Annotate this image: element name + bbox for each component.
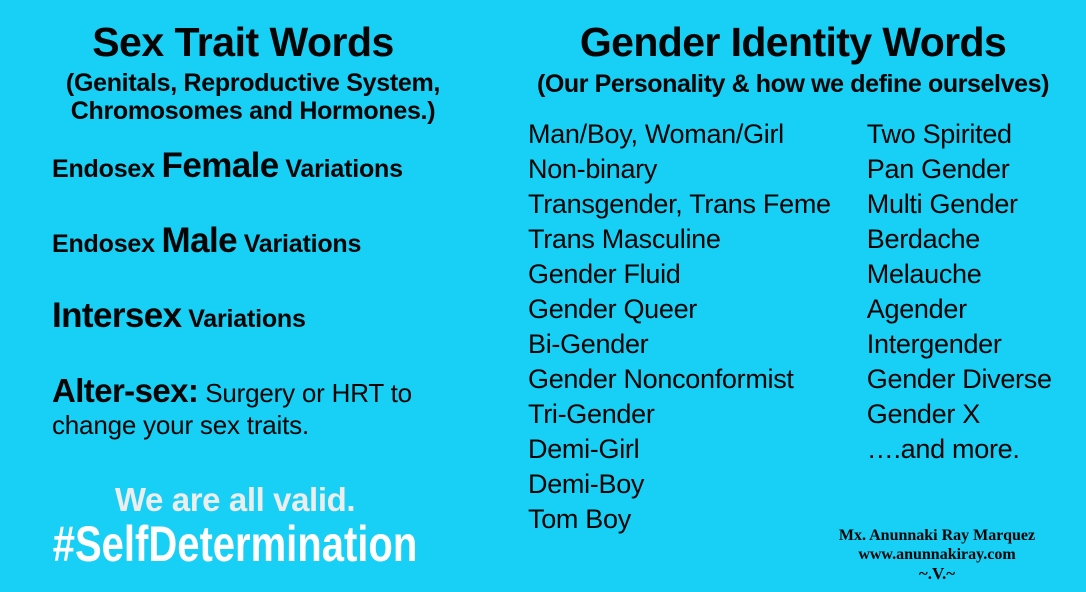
list-item: Man/Boy, Woman/Girl bbox=[528, 117, 867, 152]
endosex-male-emphasis: Male bbox=[162, 221, 237, 260]
slogan-block: We are all valid. #SelfDetermination bbox=[0, 483, 470, 571]
intersex-emphasis: Intersex bbox=[52, 296, 181, 335]
list-item: Gender X bbox=[867, 397, 1086, 432]
endosex-male-suffix: Variations bbox=[237, 230, 361, 258]
alter-sex-definition: Alter-sex: Surgery or HRT to change your… bbox=[0, 373, 472, 444]
list-item: Tri-Gender bbox=[528, 397, 867, 432]
endosex-male-prefix: Endosex bbox=[52, 230, 162, 258]
list-item: Non-binary bbox=[528, 152, 867, 187]
endosex-female-prefix: Endosex bbox=[52, 155, 162, 183]
endosex-female-suffix: Variations bbox=[279, 155, 403, 183]
author-credit: Mx. Anunnaki Ray Marquez www.anunnakiray… bbox=[802, 527, 1072, 584]
slogan-hashtag-selfdetermination: #SelfDetermination bbox=[47, 518, 423, 571]
author-signature: ~.V.~ bbox=[802, 564, 1072, 584]
sex-trait-row-intersex: Intersex Variations bbox=[52, 298, 500, 333]
gender-identity-words-panel: Gender Identity Words (Our Personality &… bbox=[500, 0, 1086, 592]
list-item: ….and more. bbox=[867, 432, 1086, 467]
gender-word-column-left: Man/Boy, Woman/Girl Non-binary Transgend… bbox=[528, 117, 867, 537]
alter-sex-first-line: Alter-sex: Surgery or HRT to bbox=[52, 373, 472, 410]
sex-trait-category-list: Endosex Female Variations Endosex Male V… bbox=[0, 148, 500, 333]
intersex-suffix: Variations bbox=[181, 305, 305, 333]
list-item: Pan Gender bbox=[867, 152, 1086, 187]
list-item: Demi-Boy bbox=[528, 467, 867, 502]
alter-sex-term: Alter-sex: bbox=[52, 372, 198, 409]
alter-sex-description-part-2: change your sex traits. bbox=[52, 409, 472, 443]
list-item: Trans Masculine bbox=[528, 222, 867, 257]
infographic-canvas: Sex Trait Words (Genitals, Reproductive … bbox=[0, 0, 1086, 592]
sex-trait-row-endosex-female: Endosex Female Variations bbox=[52, 148, 500, 183]
slogan-we-are-all-valid: We are all valid. bbox=[0, 483, 470, 516]
list-item: Transgender, Trans Feme bbox=[528, 187, 867, 222]
gender-word-columns: Man/Boy, Woman/Girl Non-binary Transgend… bbox=[500, 117, 1086, 537]
left-panel-subtitle: (Genitals, Reproductive System, Chromoso… bbox=[0, 69, 500, 126]
list-item: Berdache bbox=[867, 222, 1086, 257]
list-item: Gender Diverse bbox=[867, 362, 1086, 397]
gender-word-column-right: Two Spirited Pan Gender Multi Gender Ber… bbox=[867, 117, 1086, 537]
list-item: Agender bbox=[867, 292, 1086, 327]
sex-trait-words-panel: Sex Trait Words (Genitals, Reproductive … bbox=[0, 0, 500, 592]
sex-trait-row-endosex-male: Endosex Male Variations bbox=[52, 223, 500, 258]
list-item: Intergender bbox=[867, 327, 1086, 362]
list-item: Demi-Girl bbox=[528, 432, 867, 467]
left-subtitle-line-1: (Genitals, Reproductive System, bbox=[24, 69, 482, 97]
right-panel-title: Gender Identity Words bbox=[500, 22, 1086, 63]
list-item: Gender Queer bbox=[528, 292, 867, 327]
author-name: Mx. Anunnaki Ray Marquez bbox=[802, 527, 1072, 546]
endosex-female-emphasis: Female bbox=[162, 146, 279, 185]
list-item: Two Spirited bbox=[867, 117, 1086, 152]
list-item: Gender Nonconformist bbox=[528, 362, 867, 397]
author-website: www.anunnakiray.com bbox=[802, 546, 1072, 565]
left-subtitle-line-2: Chromosomes and Hormones.) bbox=[24, 97, 482, 125]
right-panel-subtitle: (Our Personality & how we define ourselv… bbox=[500, 71, 1086, 99]
left-panel-title: Sex Trait Words bbox=[0, 22, 500, 63]
list-item: Gender Fluid bbox=[528, 257, 867, 292]
list-item: Melauche bbox=[867, 257, 1086, 292]
list-item: Bi-Gender bbox=[528, 327, 867, 362]
alter-sex-description-part-1: Surgery or HRT to bbox=[198, 378, 412, 408]
list-item: Multi Gender bbox=[867, 187, 1086, 222]
